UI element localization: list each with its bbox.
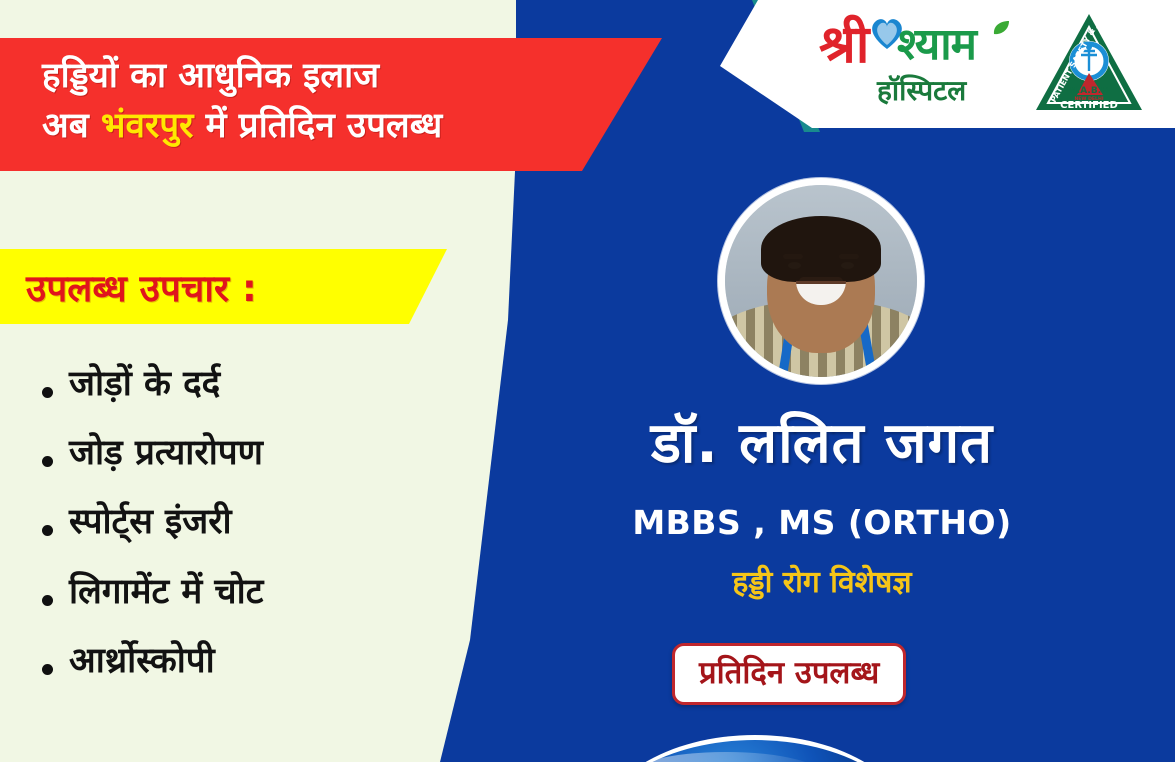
- list-item: जोड़ प्रत्यारोपण: [42, 434, 462, 473]
- headline-line-1: हड्डियों का आधुनिक इलाज: [42, 52, 700, 102]
- photo-brow-left: [783, 254, 803, 259]
- treatments-heading-banner: उपलब्ध उपचार :: [0, 249, 475, 324]
- bullet-icon: [42, 525, 53, 536]
- nabh-org-label: N.A.B.H: [1069, 86, 1108, 96]
- list-item: लिगामेंट में चोट: [42, 573, 462, 612]
- logo-sub-text: हॉस्पिटल: [877, 77, 966, 105]
- hospital-branding: श्री श्याम हॉस्पिटल: [815, 6, 1145, 118]
- list-item: जोड़ों के दर्द: [42, 365, 462, 404]
- nabh-certified-badge: N.A.B.H NEW DELHI CERTIFIED PATIENT SAFE…: [1033, 11, 1145, 113]
- treatment-label: स्पोर्ट्स इंजरी: [69, 503, 232, 542]
- photo-eye-left: [788, 262, 801, 269]
- treatment-label: जोड़ों के दर्द: [69, 365, 220, 404]
- headline-location-highlight: भंवरपुर: [101, 106, 194, 146]
- bullet-icon: [42, 456, 53, 467]
- treatment-label: आर्थ्रोस्कोपी: [69, 642, 215, 681]
- list-item: स्पोर्ट्स इंजरी: [42, 503, 462, 542]
- treatment-label: जोड़ प्रत्यारोपण: [69, 434, 263, 473]
- list-item: आर्थ्रोस्कोपी: [42, 642, 462, 681]
- headline-line-2-before: अब: [42, 106, 101, 146]
- availability-badge: प्रतिदिन उपलब्ध: [672, 643, 906, 705]
- poster-canvas: श्री श्याम हॉस्पिटल: [0, 0, 1175, 762]
- avatar: [725, 185, 917, 377]
- bullet-icon: [42, 387, 53, 398]
- treatment-label: लिगामेंट में चोट: [69, 573, 263, 612]
- treatments-heading-text: उपलब्ध उपचार :: [0, 261, 257, 312]
- doctor-qualification: MBBS , MS (ORTHO): [502, 503, 1142, 542]
- nabh-status: CERTIFIED: [1060, 100, 1118, 111]
- doctor-photo-frame: [718, 178, 924, 384]
- logo-brand-text: श्याम: [897, 23, 976, 67]
- photo-brow-right: [839, 254, 859, 259]
- shree-shyam-hospital-logo: श्री श्याम हॉस्पिटल: [815, 9, 1015, 115]
- treatments-list: जोड़ों के दर्द जोड़ प्रत्यारोपण स्पोर्ट्…: [42, 365, 462, 711]
- headline-line-2-after: में प्रतिदिन उपलब्ध: [194, 106, 443, 146]
- bullet-icon: [42, 664, 53, 675]
- bullet-icon: [42, 595, 53, 606]
- photo-hair: [761, 216, 881, 282]
- photo-eye-right: [841, 262, 854, 269]
- doctor-name: डॉ. ललित जगत: [502, 415, 1142, 474]
- doctor-specialty: हड्डी रोग विशेषज्ञ: [502, 560, 1142, 601]
- logo-shree-text: श्री: [819, 19, 867, 71]
- leaf-icon: [991, 19, 1011, 39]
